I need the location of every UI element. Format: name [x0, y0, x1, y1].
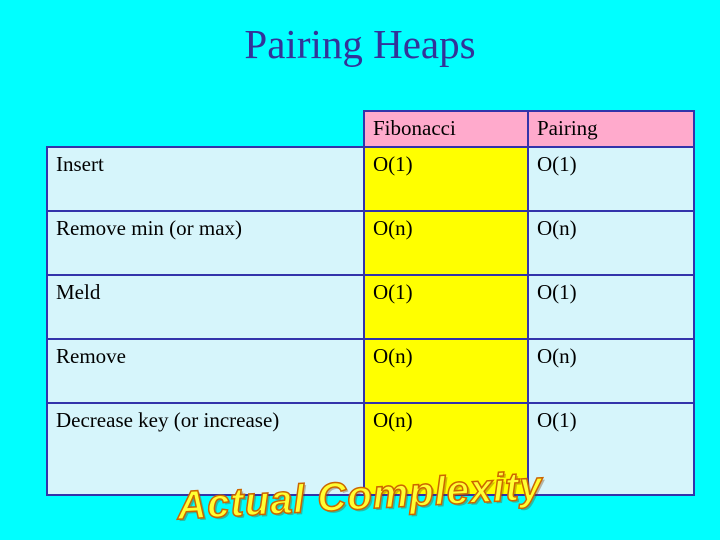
- complexity-table-container: Fibonacci Pairing Insert O(1) O(1) Remov…: [46, 110, 646, 496]
- slide: Pairing Heaps Fibonacci Pairing Insert O…: [0, 0, 720, 540]
- row-operation: Insert: [47, 147, 364, 211]
- row-fibonacci: O(1): [364, 147, 528, 211]
- row-pairing: O(1): [528, 147, 694, 211]
- row-pairing: O(1): [528, 275, 694, 339]
- table-header-pairing: Pairing: [528, 111, 694, 147]
- table-row: Meld O(1) O(1): [47, 275, 694, 339]
- row-operation: Remove min (or max): [47, 211, 364, 275]
- row-pairing: O(n): [528, 211, 694, 275]
- row-pairing: O(n): [528, 339, 694, 403]
- page-title: Pairing Heaps: [0, 20, 720, 68]
- table-row: Remove min (or max) O(n) O(n): [47, 211, 694, 275]
- table-row: Remove O(n) O(n): [47, 339, 694, 403]
- table-header-blank: [47, 111, 364, 147]
- table-header-row: Fibonacci Pairing: [47, 111, 694, 147]
- row-operation: Meld: [47, 275, 364, 339]
- row-fibonacci: O(1): [364, 275, 528, 339]
- row-operation: Remove: [47, 339, 364, 403]
- table-row: Insert O(1) O(1): [47, 147, 694, 211]
- row-fibonacci: O(n): [364, 339, 528, 403]
- table-header-fibonacci: Fibonacci: [364, 111, 528, 147]
- row-fibonacci: O(n): [364, 211, 528, 275]
- complexity-table: Fibonacci Pairing Insert O(1) O(1) Remov…: [46, 110, 695, 496]
